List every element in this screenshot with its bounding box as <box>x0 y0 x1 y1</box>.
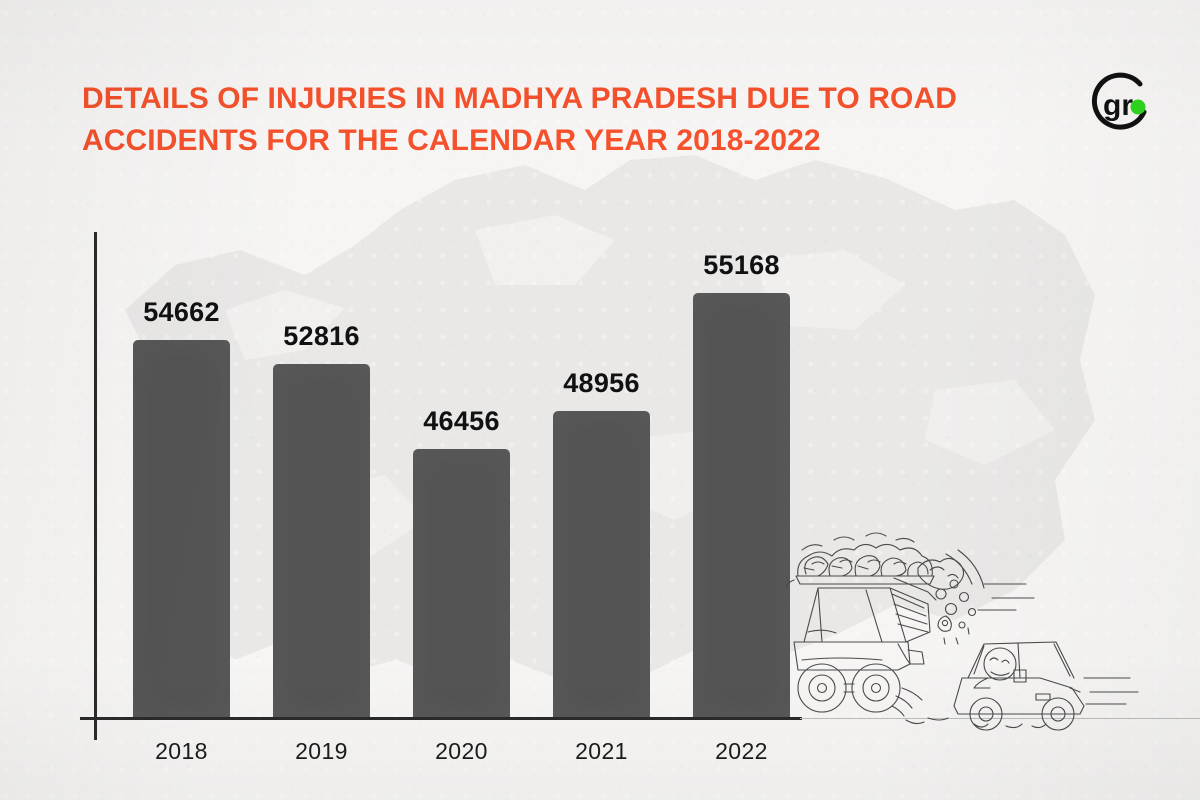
bar-value-2022: 55168 <box>642 250 842 281</box>
bar-series: 54662 2018 52816 2019 46456 2020 48956 2… <box>0 0 1200 800</box>
bar-value-2021: 48956 <box>502 368 702 399</box>
bar-group-2021: 48956 2021 <box>553 0 650 800</box>
bar-group-2022: 55168 2022 <box>693 0 790 800</box>
bar-category-2022: 2022 <box>642 738 842 765</box>
bar-2020[interactable] <box>413 449 510 717</box>
bar-2022[interactable] <box>693 293 790 717</box>
bar-group-2018: 54662 2018 <box>133 0 230 800</box>
bar-value-2019: 52816 <box>222 321 422 352</box>
bar-group-2019: 52816 2019 <box>273 0 370 800</box>
infographic-poster: DETAILS OF INJURIES IN MADHYA PRADESH DU… <box>0 0 1200 800</box>
bar-2018[interactable] <box>133 340 230 717</box>
bar-2019[interactable] <box>273 364 370 717</box>
bar-value-2020: 46456 <box>362 406 562 437</box>
bar-group-2020: 46456 2020 <box>413 0 510 800</box>
bar-2021[interactable] <box>553 411 650 717</box>
